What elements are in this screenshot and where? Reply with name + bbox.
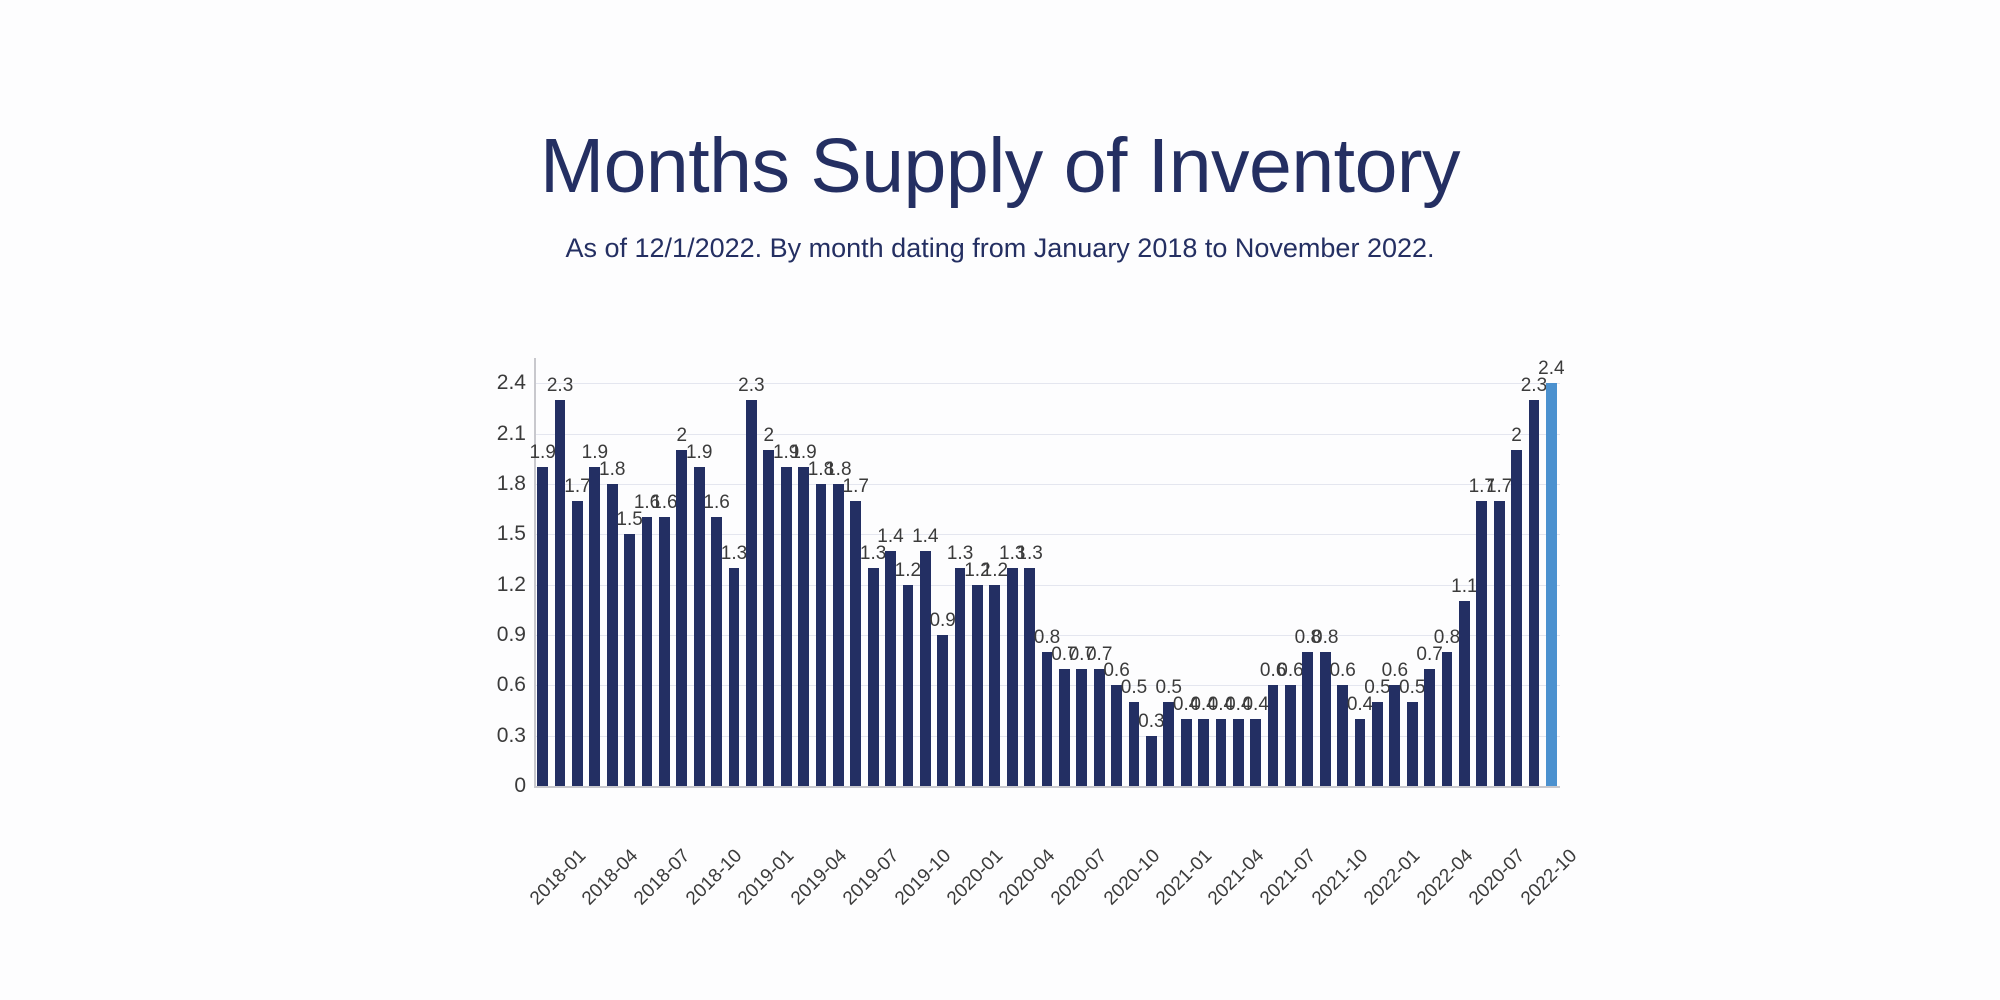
bar-slot: 1.8 — [812, 358, 829, 786]
bar[interactable]: 1.3 — [1024, 568, 1035, 786]
bar[interactable]: 1.4 — [885, 551, 896, 786]
x-axis-tick-label: 2021-10 — [1308, 845, 1373, 910]
bar[interactable]: 1.2 — [989, 585, 1000, 786]
y-axis-tick-label: 1.8 — [497, 472, 526, 496]
bar[interactable]: 1.8 — [607, 484, 618, 786]
bar[interactable]: 1.6 — [642, 517, 653, 786]
bar-slot: 0.6 — [1264, 358, 1281, 786]
bar-slot: 0.7 — [1421, 358, 1438, 786]
bar[interactable]: 0.4 — [1355, 719, 1366, 786]
x-axis-tick-label: 2019-04 — [787, 845, 852, 910]
bar-slot: 0.6 — [1386, 358, 1403, 786]
bar-slot: 0.8 — [1438, 358, 1455, 786]
bar[interactable]: 0.4 — [1233, 719, 1244, 786]
bar-slot: 1.7 — [569, 358, 586, 786]
bar[interactable]: 1.4 — [920, 551, 931, 786]
bar-slot: 1.7 — [847, 358, 864, 786]
bar-slot: 0.8 — [1299, 358, 1316, 786]
y-axis-tick-label: 0.6 — [497, 673, 526, 697]
bar[interactable]: 1.3 — [868, 568, 879, 786]
bar-slot: 1.2 — [969, 358, 986, 786]
bar-slot: 1.3 — [1021, 358, 1038, 786]
bar[interactable]: 0.8 — [1320, 652, 1331, 786]
x-axis-tick-label: 2020-07 — [1047, 845, 1112, 910]
bar[interactable]: 0.4 — [1250, 719, 1261, 786]
bar[interactable]: 2 — [763, 450, 774, 786]
bar[interactable]: 2 — [676, 450, 687, 786]
x-axis-tick-label: 2021-07 — [1256, 845, 1321, 910]
x-axis-tick-label: 2020-01 — [943, 845, 1008, 910]
bar[interactable]: 1.9 — [798, 467, 809, 786]
bar[interactable]: 0.6 — [1111, 685, 1122, 786]
bar[interactable]: 1.3 — [955, 568, 966, 786]
bar[interactable]: 1.9 — [781, 467, 792, 786]
bar[interactable]: 1.2 — [972, 585, 983, 786]
bar-value-label: 2.4 — [1538, 358, 1564, 380]
x-axis-tick-label: 2018-01 — [526, 845, 591, 910]
x-axis-tick-label: 2021-04 — [1204, 845, 1269, 910]
bar[interactable]: 1.8 — [816, 484, 827, 786]
bar[interactable]: 1.7 — [572, 501, 583, 786]
bar[interactable]: 0.4 — [1181, 719, 1192, 786]
bar-slot: 2.3 — [743, 358, 760, 786]
bar-slot: 2.3 — [551, 358, 568, 786]
bar[interactable]: 0.6 — [1285, 685, 1296, 786]
bar-value-label: 2 — [677, 425, 688, 447]
bar-slot: 1.9 — [534, 358, 551, 786]
bar[interactable]: 0.5 — [1407, 702, 1418, 786]
chart-page: Months Supply of Inventory As of 12/1/20… — [0, 0, 2000, 1000]
bar[interactable]: 0.4 — [1216, 719, 1227, 786]
x-axis-tick-label: 2020-07 — [1465, 845, 1530, 910]
bar-slot: 1.3 — [725, 358, 742, 786]
bar[interactable]: 0.7 — [1076, 669, 1087, 786]
bar-slot: 0.8 — [1038, 358, 1055, 786]
bar[interactable]: 1.1 — [1459, 601, 1470, 786]
y-axis: 00.30.60.91.21.51.82.12.4 — [480, 358, 534, 788]
x-axis-tick-label: 2022-01 — [1361, 845, 1426, 910]
bar-slot: 1.3 — [1004, 358, 1021, 786]
y-axis-tick-label: 0 — [514, 774, 526, 798]
bar[interactable]: 2 — [1511, 450, 1522, 786]
bar-highlighted[interactable]: 2.4 — [1546, 383, 1557, 786]
bar[interactable]: 1.9 — [537, 467, 548, 786]
bar[interactable]: 0.4 — [1198, 719, 1209, 786]
bar[interactable]: 1.3 — [1007, 568, 1018, 786]
bar-slot: 1.7 — [1490, 358, 1507, 786]
bar[interactable]: 1.7 — [850, 501, 861, 786]
bar-slot: 0.6 — [1334, 358, 1351, 786]
bar[interactable]: 1.8 — [833, 484, 844, 786]
y-axis-tick-label: 2.1 — [497, 422, 526, 446]
bar-slot: 0.4 — [1212, 358, 1229, 786]
page-subtitle: As of 12/1/2022. By month dating from Ja… — [0, 233, 2000, 264]
bar[interactable]: 2.3 — [746, 400, 757, 786]
x-axis-tick-label: 2022-04 — [1413, 845, 1478, 910]
bar[interactable]: 0.3 — [1146, 736, 1157, 786]
bar[interactable]: 0.8 — [1302, 652, 1313, 786]
bar-slot: 0.8 — [1317, 358, 1334, 786]
bar[interactable]: 0.6 — [1337, 685, 1348, 786]
bar[interactable]: 1.7 — [1476, 501, 1487, 786]
bar-slot: 1.9 — [691, 358, 708, 786]
bar-slot: 1.7 — [1473, 358, 1490, 786]
bar[interactable]: 0.5 — [1163, 702, 1174, 786]
bar-slot: 2.3 — [1525, 358, 1542, 786]
bar-slot: 0.5 — [1125, 358, 1142, 786]
bar-slot: 0.5 — [1404, 358, 1421, 786]
bar[interactable]: 0.5 — [1372, 702, 1383, 786]
bar-slot: 0.5 — [1369, 358, 1386, 786]
bar[interactable]: 0.9 — [937, 635, 948, 786]
y-axis-tick-label: 1.5 — [497, 522, 526, 546]
bar-slot: 1.4 — [882, 358, 899, 786]
bar-slot: 0.6 — [1108, 358, 1125, 786]
bar-slot: 1.9 — [777, 358, 794, 786]
bar[interactable]: 2.3 — [555, 400, 566, 786]
page-title: Months Supply of Inventory — [0, 128, 2000, 205]
bar[interactable]: 0.7 — [1424, 669, 1435, 786]
bar-slot: 0.4 — [1247, 358, 1264, 786]
bar[interactable]: 0.8 — [1042, 652, 1053, 786]
bar-slot: 0.4 — [1351, 358, 1368, 786]
bar-slot: 1.6 — [656, 358, 673, 786]
x-axis-tick-label: 2021-01 — [1152, 845, 1217, 910]
bar-slot: 0.7 — [1091, 358, 1108, 786]
bar-slot: 1.9 — [795, 358, 812, 786]
bar[interactable]: 1.9 — [589, 467, 600, 786]
bar-slot: 2 — [760, 358, 777, 786]
bar[interactable]: 1.7 — [1494, 501, 1505, 786]
bar[interactable]: 1.2 — [903, 585, 914, 786]
bar-slot: 2 — [1508, 358, 1525, 786]
bar-slot: 0.5 — [1160, 358, 1177, 786]
bar[interactable]: 0.5 — [1129, 702, 1140, 786]
bar-slot: 0.3 — [1143, 358, 1160, 786]
x-axis-tick-label: 2018-04 — [578, 845, 643, 910]
bar[interactable]: 1.6 — [711, 517, 722, 786]
bar[interactable]: 0.8 — [1442, 652, 1453, 786]
bar-slot: 0.7 — [1056, 358, 1073, 786]
x-axis-tick-label: 2019-01 — [734, 845, 799, 910]
bar-slot: 1.2 — [899, 358, 916, 786]
bar-slot: 2.4 — [1543, 358, 1560, 786]
x-axis: 2018-012018-042018-072018-102019-012019-… — [534, 790, 1560, 910]
x-axis-tick-label: 2020-10 — [1100, 845, 1165, 910]
bar[interactable]: 1.5 — [624, 534, 635, 786]
bar-slot: 0.7 — [1073, 358, 1090, 786]
x-axis-tick-label: 2018-10 — [682, 845, 747, 910]
bar-slot: 1.6 — [708, 358, 725, 786]
bar-slot: 0.4 — [1177, 358, 1194, 786]
bar[interactable]: 1.6 — [659, 517, 670, 786]
bar-slot: 1.3 — [951, 358, 968, 786]
bar-slot: 1.1 — [1456, 358, 1473, 786]
bar[interactable]: 1.9 — [694, 467, 705, 786]
bar-value-label: 2 — [763, 425, 774, 447]
bar-slot: 0.4 — [1195, 358, 1212, 786]
bar[interactable]: 0.6 — [1389, 685, 1400, 786]
bar[interactable]: 2.3 — [1529, 400, 1540, 786]
bar-slot: 1.8 — [604, 358, 621, 786]
bar-slot: 2 — [673, 358, 690, 786]
x-axis-tick-label: 2022-10 — [1517, 845, 1582, 910]
bar-slot: 0.6 — [1282, 358, 1299, 786]
bar-slot: 0.4 — [1230, 358, 1247, 786]
bar[interactable]: 0.7 — [1059, 669, 1070, 786]
bar-slot: 1.6 — [638, 358, 655, 786]
bar-slot: 0.9 — [934, 358, 951, 786]
y-axis-tick-label: 0.3 — [497, 724, 526, 748]
bar-chart: 00.30.60.91.21.51.82.12.4 1.92.31.71.91.… — [480, 358, 1560, 788]
bar-series: 1.92.31.71.91.81.51.61.621.91.61.32.321.… — [534, 358, 1560, 786]
y-axis-tick-label: 1.2 — [497, 573, 526, 597]
y-axis-tick-label: 2.4 — [497, 371, 526, 395]
bar[interactable]: 1.3 — [729, 568, 740, 786]
x-axis-tick-label: 2019-10 — [891, 845, 956, 910]
bar-slot: 1.3 — [864, 358, 881, 786]
bar[interactable]: 0.7 — [1094, 669, 1105, 786]
x-axis-tick-label: 2020-04 — [995, 845, 1060, 910]
chart-header: Months Supply of Inventory As of 12/1/20… — [0, 0, 2000, 264]
bar-slot: 1.8 — [830, 358, 847, 786]
bar-slot: 1.2 — [986, 358, 1003, 786]
x-axis-tick-label: 2018-07 — [630, 845, 695, 910]
bar[interactable]: 0.6 — [1268, 685, 1279, 786]
x-axis-tick-label: 2019-07 — [839, 845, 904, 910]
bar-slot: 1.4 — [917, 358, 934, 786]
bar-slot: 1.5 — [621, 358, 638, 786]
y-axis-tick-label: 0.9 — [497, 623, 526, 647]
bar-slot: 1.9 — [586, 358, 603, 786]
bar-value-label: 2 — [1511, 425, 1522, 447]
